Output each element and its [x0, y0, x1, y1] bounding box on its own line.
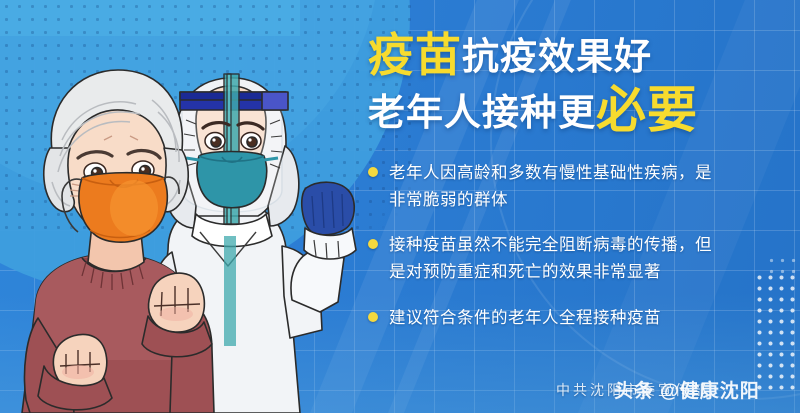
bullet-list: 老年人因高龄和多数有慢性基础性疾病，是非常脆弱的群体 接种疫苗虽然不能完全阻断病…	[368, 160, 788, 332]
bullet-text: 接种疫苗虽然不能完全阻断病毒的传播，但是对预防重症和死亡的效果非常显著	[389, 232, 719, 285]
headline-line-1: 疫苗抗疫效果好	[368, 32, 788, 79]
bullet-text: 老年人因高龄和多数有慢性基础性疾病，是非常脆弱的群体	[389, 160, 719, 213]
list-item: 接种疫苗虽然不能完全阻断病毒的传播，但是对预防重症和死亡的效果非常显著	[368, 232, 788, 285]
footer: 中共沈阳市委宣传部 头条 @健康沈阳	[556, 377, 796, 403]
headline-line-2: 老年人接种更必要	[368, 85, 788, 136]
headline-highlight-necessary: 必要	[596, 82, 698, 138]
headline: 疫苗抗疫效果好 老年人接种更必要	[368, 32, 788, 136]
list-item: 老年人因高龄和多数有慢性基础性疾病，是非常脆弱的群体	[368, 160, 788, 213]
headline-line-2-rest: 老年人接种更	[368, 92, 596, 133]
list-item: 建议符合条件的老年人全程接种疫苗	[368, 305, 788, 332]
illustration-people	[0, 0, 400, 413]
bullet-dot-icon	[368, 167, 378, 177]
text-content: 疫苗抗疫效果好 老年人接种更必要 老年人因高龄和多数有慢性基础性疾病，是非常脆弱…	[368, 32, 788, 392]
bullet-dot-icon	[368, 239, 378, 249]
headline-line-1-rest: 抗疫效果好	[462, 36, 652, 77]
vaccine-poster: 疫苗抗疫效果好 老年人接种更必要 老年人因高龄和多数有慢性基础性疾病，是非常脆弱…	[0, 0, 800, 413]
headline-highlight-vaccine: 疫苗	[368, 29, 462, 81]
bullet-dot-icon	[368, 312, 378, 322]
bullet-text: 建议符合条件的老年人全程接种疫苗	[389, 305, 661, 332]
watermark: 头条 @健康沈阳	[614, 376, 760, 403]
